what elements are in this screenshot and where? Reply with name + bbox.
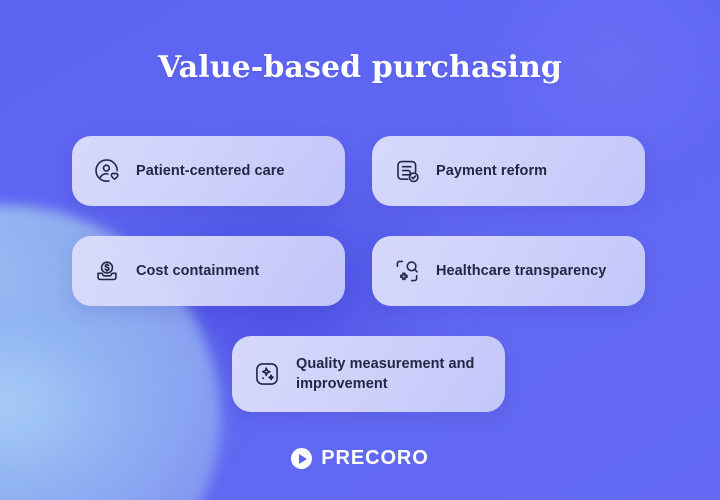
infographic-content: Value-based purchasing Patient-centered … — [0, 0, 720, 500]
card-cost-containment[interactable]: Cost containment — [72, 236, 345, 306]
card-label: Patient-centered care — [136, 161, 285, 181]
play-circle-icon — [291, 448, 312, 469]
infographic-canvas: Value-based purchasing Patient-centered … — [0, 0, 720, 500]
patient-care-icon — [92, 156, 122, 186]
brand-name: PRECORO — [321, 447, 428, 470]
play-triangle-icon — [299, 454, 307, 464]
card-quality-measurement[interactable]: Quality measurement and improvement — [232, 336, 505, 412]
card-healthcare-transparency[interactable]: Healthcare transparency — [372, 236, 645, 306]
page-title: Value-based purchasing — [0, 50, 720, 85]
scan-search-medical-icon — [392, 256, 422, 286]
card-label: Quality measurement and improvement — [296, 354, 485, 394]
coin-tray-icon — [92, 256, 122, 286]
card-payment-reform[interactable]: Payment reform — [372, 136, 645, 206]
card-label: Cost containment — [136, 261, 259, 281]
payment-document-check-icon — [392, 156, 422, 186]
card-label: Payment reform — [436, 161, 547, 181]
card-label: Healthcare transparency — [436, 261, 606, 281]
precoro-logo[interactable]: PRECORO — [0, 447, 720, 470]
card-patient-centered-care[interactable]: Patient-centered care — [72, 136, 345, 206]
sparkles-square-icon — [252, 359, 282, 389]
